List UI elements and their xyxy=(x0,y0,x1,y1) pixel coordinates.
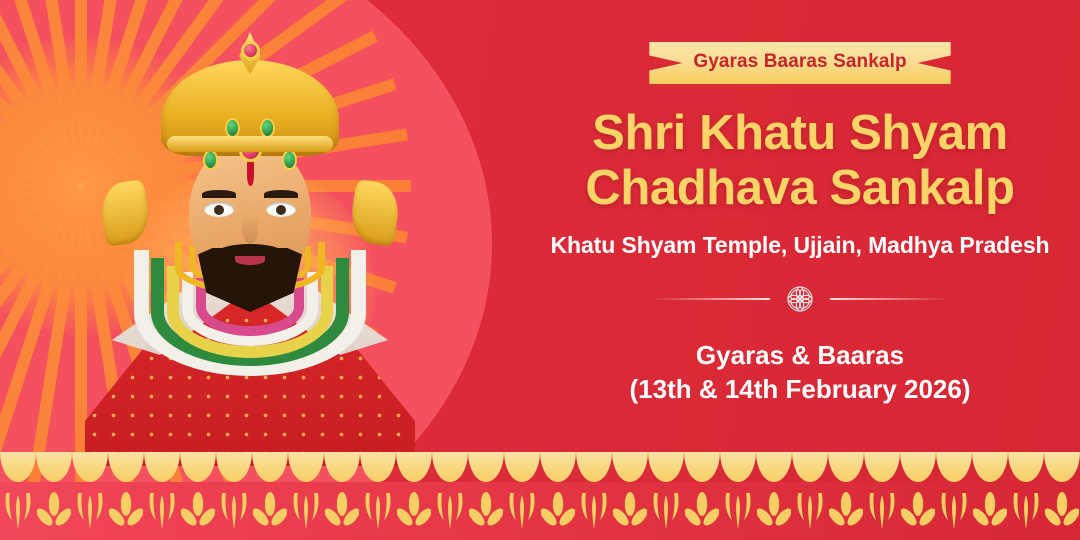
banner-content: Gyaras Baaras Sankalp Shri Khatu Shyam C… xyxy=(520,0,1080,462)
crown-top-gem xyxy=(244,44,257,57)
scallop-arch xyxy=(504,452,540,482)
crown-gem-green-a xyxy=(205,152,216,168)
lotus-icon xyxy=(612,489,648,533)
trishul-icon xyxy=(576,489,612,533)
trishul-icon xyxy=(792,489,828,533)
scallop-arch xyxy=(648,452,684,482)
trishul-icon xyxy=(864,489,900,533)
title-line-1: Shri Khatu Shyam xyxy=(585,106,1014,161)
scallop-arch xyxy=(756,452,792,482)
divider-rule-left xyxy=(650,298,770,300)
trishul-icon xyxy=(360,489,396,533)
lotus-icon xyxy=(684,489,720,533)
trishul-icon xyxy=(720,489,756,533)
lips xyxy=(235,256,265,265)
page-title: Shri Khatu Shyam Chadhava Sankalp xyxy=(585,106,1014,216)
trishul-icon xyxy=(72,489,108,533)
scallop-arch xyxy=(576,452,612,482)
lotus-icon xyxy=(108,489,144,533)
lotus-icon xyxy=(972,489,1008,533)
scallop-arch xyxy=(144,452,180,482)
scallop-arch xyxy=(684,452,720,482)
scallop-arch xyxy=(0,452,36,482)
trishul-icon xyxy=(648,489,684,533)
trishul-icon xyxy=(144,489,180,533)
scallop-arch xyxy=(792,452,828,482)
event-badge: Gyaras Baaras Sankalp xyxy=(649,42,950,84)
temple-location: Khatu Shyam Temple, Ujjain, Madhya Prade… xyxy=(551,232,1050,259)
scallop-arch xyxy=(72,452,108,482)
crown-gem-green-d xyxy=(262,120,273,136)
lotus-icon xyxy=(468,489,504,533)
scallop-arch xyxy=(432,452,468,482)
crown-gem-green-b xyxy=(284,152,295,168)
crown-gem-green-c xyxy=(227,120,238,136)
scallop-arch xyxy=(108,452,144,482)
eyebrow-left xyxy=(202,190,236,198)
lotus-icon xyxy=(324,489,360,533)
divider-rule-right xyxy=(830,298,950,300)
trishul-icon xyxy=(1008,489,1044,533)
decorative-bottom-border xyxy=(0,452,1080,540)
lotus-icon xyxy=(180,489,216,533)
lotus-icon xyxy=(540,489,576,533)
occasion-name: Gyaras & Baaras xyxy=(696,339,904,373)
scallop-arch xyxy=(864,452,900,482)
scallop-arch xyxy=(720,452,756,482)
scallop-arch xyxy=(612,452,648,482)
event-dates: (13th & 14th February 2026) xyxy=(629,373,970,407)
title-line-2: Chadhava Sankalp xyxy=(585,161,1014,216)
scallop-arch xyxy=(252,452,288,482)
scallop-arch xyxy=(324,452,360,482)
scallop-arch xyxy=(288,452,324,482)
nose xyxy=(242,214,258,244)
trishul-icon xyxy=(936,489,972,533)
eyebrow-right xyxy=(264,190,298,198)
lotus-icon xyxy=(252,489,288,533)
trishul-icon xyxy=(504,489,540,533)
scallop-arch xyxy=(396,452,432,482)
scallop-arch xyxy=(936,452,972,482)
scallop-arch-row xyxy=(0,452,1080,482)
scallop-arch xyxy=(972,452,1008,482)
lotus-icon xyxy=(756,489,792,533)
trishul-icon xyxy=(0,489,36,533)
scallop-arch xyxy=(216,452,252,482)
scallop-arch xyxy=(468,452,504,482)
lotus-icon xyxy=(1044,489,1080,533)
trishul-icon xyxy=(216,489,252,533)
eye-left xyxy=(204,202,234,217)
khatu-shyam-deity-illustration xyxy=(80,14,420,466)
scallop-arch xyxy=(360,452,396,482)
scallop-arch xyxy=(1044,452,1080,482)
eye-right xyxy=(266,202,296,217)
scallop-arch xyxy=(900,452,936,482)
crown-pearl-band xyxy=(167,136,333,152)
scallop-arch xyxy=(828,452,864,482)
tilak-icon xyxy=(247,160,254,186)
lotus-icon xyxy=(396,489,432,533)
lotus-icon xyxy=(900,489,936,533)
lotus-icon xyxy=(828,489,864,533)
rosette-ornament-icon xyxy=(784,283,816,315)
scallop-arch xyxy=(36,452,72,482)
motif-row xyxy=(0,482,1080,540)
lotus-icon xyxy=(36,489,72,533)
scallop-arch xyxy=(180,452,216,482)
scallop-arch xyxy=(1008,452,1044,482)
trishul-icon xyxy=(288,489,324,533)
trishul-icon xyxy=(432,489,468,533)
scallop-arch xyxy=(540,452,576,482)
ornamental-divider xyxy=(650,283,950,315)
promotional-banner: Gyaras Baaras Sankalp Shri Khatu Shyam C… xyxy=(0,0,1080,540)
